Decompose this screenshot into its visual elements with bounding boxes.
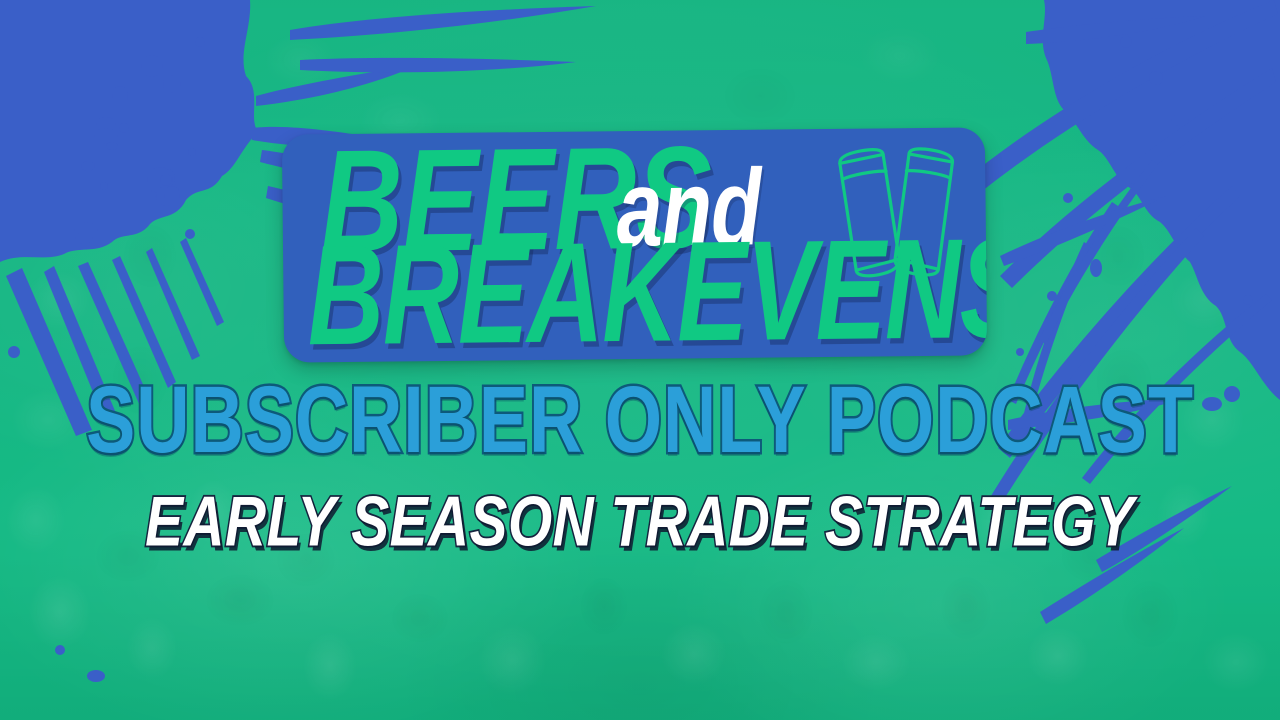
show-logo[interactable]: BEERS and BREAKEVENS bbox=[282, 127, 987, 362]
podcast-cover-art: BEERS and BREAKEVENS bbox=[0, 0, 1280, 720]
two-beer-cans-icon bbox=[833, 142, 962, 283]
paint-splatter-decoration bbox=[0, 0, 1280, 720]
